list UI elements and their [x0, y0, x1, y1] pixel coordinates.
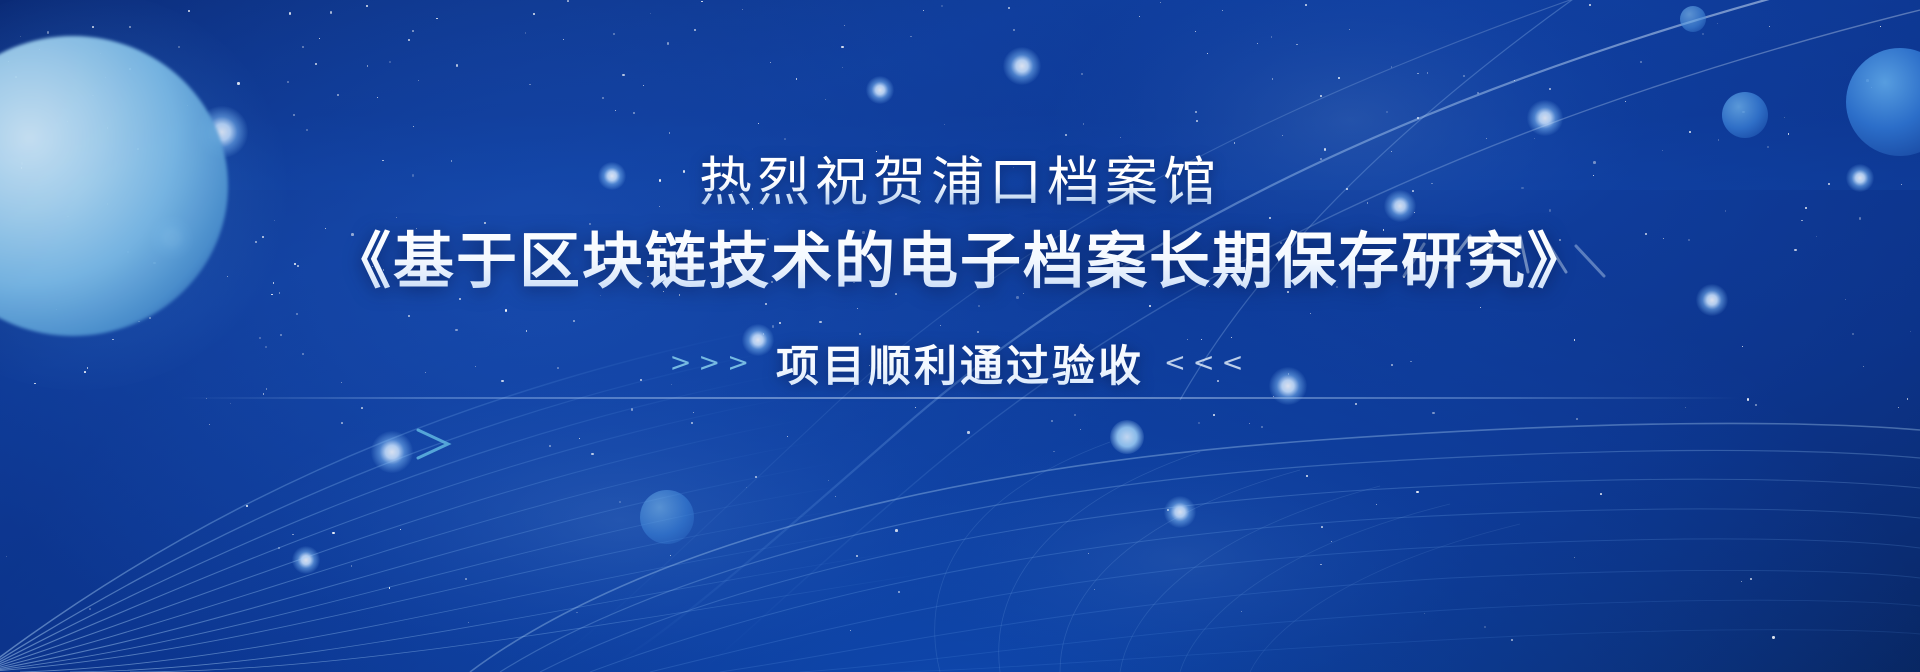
project-title-text: 《基于区块链技术的电子档案长期保存研究》	[330, 225, 1590, 298]
status-line-row: >>> 项目顺利通过验收 <<<	[670, 332, 1251, 394]
chevrons-right-icon: <<<	[1164, 348, 1250, 378]
status-line-text: 项目顺利通过验收	[776, 332, 1144, 394]
chevrons-left-icon: >>>	[670, 348, 756, 378]
horizontal-divider	[180, 397, 1740, 399]
banner-content: 热烈祝贺浦口档案馆 《基于区块链技术的电子档案长期保存研究》 >>> 项目顺利通…	[0, 0, 1920, 672]
celebration-banner: 热烈祝贺浦口档案馆 《基于区块链技术的电子档案长期保存研究》 >>> 项目顺利通…	[0, 0, 1920, 672]
headline-text: 热烈祝贺浦口档案馆	[699, 152, 1221, 213]
